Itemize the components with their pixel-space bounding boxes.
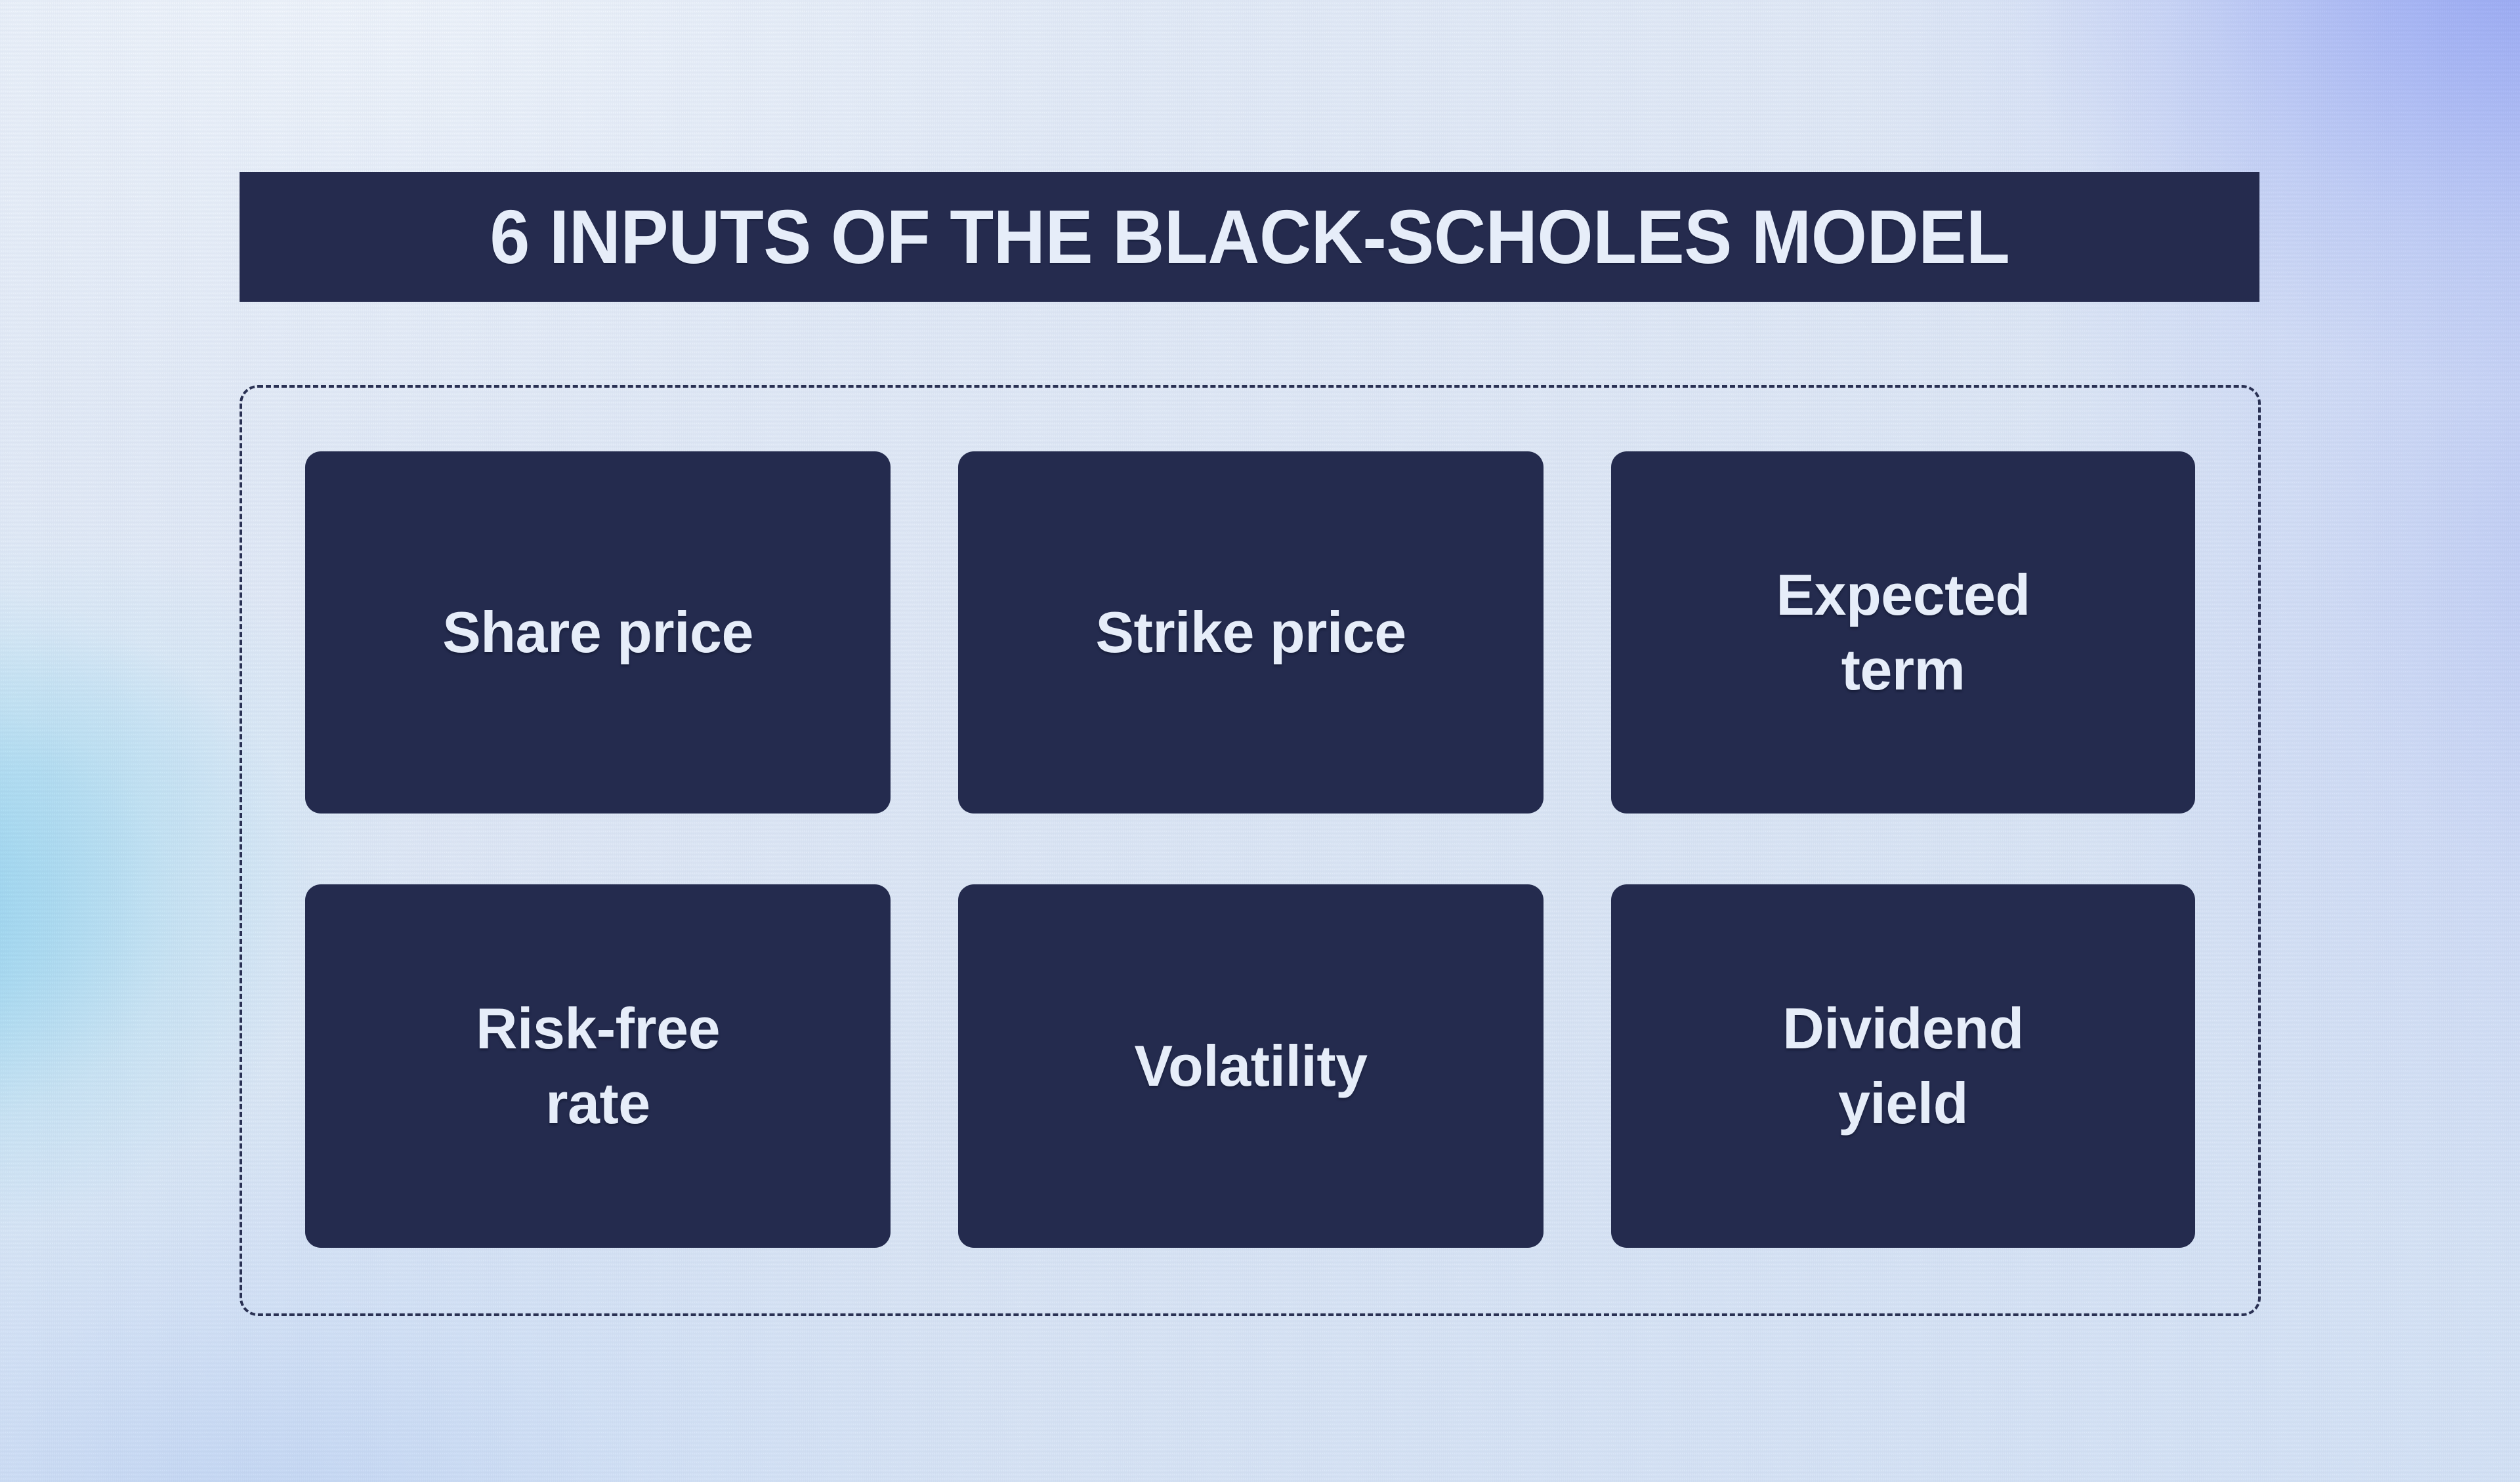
input-card-label: Strike price <box>1095 595 1406 670</box>
infographic-canvas: 6 INPUTS OF THE BLACK-SCHOLES MODEL Shar… <box>0 0 2520 1482</box>
inputs-card-grid: Share price Strike price Expected term R… <box>305 451 2195 1248</box>
input-card-label: Dividend yield <box>1759 991 2047 1142</box>
input-card-label: Share price <box>442 595 753 670</box>
input-card-dividend-yield: Dividend yield <box>1611 884 2195 1248</box>
input-card-volatility: Volatility <box>958 884 1543 1248</box>
title-band: 6 INPUTS OF THE BLACK-SCHOLES MODEL <box>240 172 2259 302</box>
input-card-label: Volatility <box>1134 1029 1367 1103</box>
input-card-risk-free-rate: Risk-free rate <box>305 884 891 1248</box>
input-card-share-price: Share price <box>305 451 891 813</box>
input-card-label: Risk-free rate <box>453 991 742 1142</box>
page-title: 6 INPUTS OF THE BLACK-SCHOLES MODEL <box>490 199 2009 275</box>
input-card-label: Expected term <box>1759 558 2047 708</box>
input-card-strike-price: Strike price <box>958 451 1543 813</box>
input-card-expected-term: Expected term <box>1611 451 2195 813</box>
